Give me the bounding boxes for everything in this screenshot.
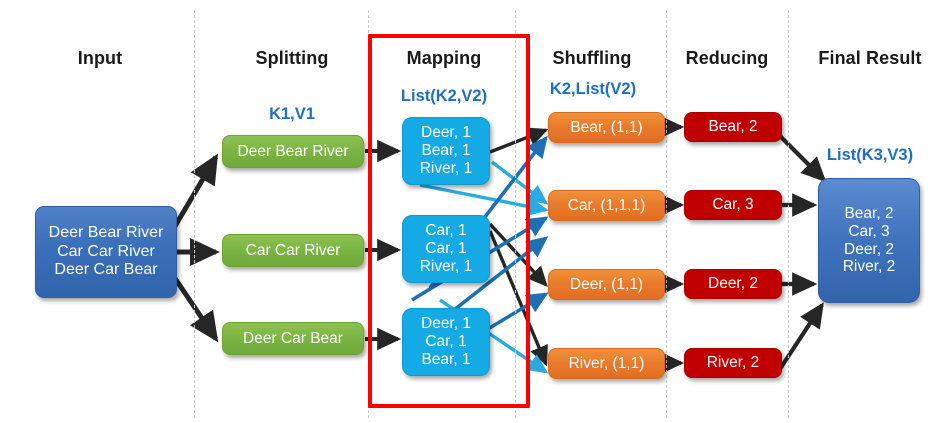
stage-title-mapping: Mapping [372,48,516,69]
shuffle-box-bear[interactable]: Bear, (1,1) [548,112,665,143]
reduce-box-river[interactable]: River, 2 [684,348,782,378]
reduce-box-deer[interactable]: Deer, 2 [684,269,782,299]
final-line-4: River, 2 [843,258,896,276]
stage-title-final-result: Final Result [796,48,944,69]
stage-title-input: Input [30,48,170,69]
map2-line-2: Car, 1 [425,240,466,258]
final-line-2: Car, 3 [848,223,889,241]
shuffle-text-deer: Deer, (1,1) [570,276,643,294]
final-result-box[interactable]: Bear, 2 Car, 3 Deer, 2 River, 2 [818,178,920,303]
shuffle-text-car: Car, (1,1,1) [568,197,646,215]
map-box-2[interactable]: Car, 1 Car, 1 River, 1 [402,215,490,283]
split-text-3: Deer Car Bear [243,330,343,348]
map3-line-3: Bear, 1 [421,351,470,369]
shuffle-text-bear: Bear, (1,1) [570,119,642,137]
shuffle-box-car[interactable]: Car, (1,1,1) [548,190,665,221]
input-box[interactable]: Deer Bear River Car Car River Deer Car B… [35,206,177,298]
input-line-1: Deer Bear River [49,224,164,243]
map-box-1[interactable]: Deer, 1 Bear, 1 River, 1 [402,117,490,185]
kv-label-list-k2v2: List(K2,V2) [372,87,516,106]
map1-line-1: Deer, 1 [421,124,471,142]
shuffle-box-deer[interactable]: Deer, (1,1) [548,269,665,300]
map1-line-3: River, 1 [420,160,473,178]
reduce-box-car[interactable]: Car, 3 [684,190,782,220]
shuffle-text-river: River, (1,1) [569,355,645,373]
stage-title-reducing: Reducing [666,48,788,69]
mapreduce-diagram: Input Splitting Mapping Shuffling Reduci… [0,0,950,423]
split-box-1[interactable]: Deer Bear River [222,135,364,168]
reduce-text-river: River, 2 [707,354,760,372]
split-text-1: Deer Bear River [237,143,348,161]
shuffle-to-reduce-arrows [665,127,681,363]
stage-title-splitting: Splitting [222,48,362,69]
map1-line-2: Bear, 1 [421,142,470,160]
input-line-2: Car Car River [57,243,155,262]
input-line-3: Deer Car Bear [54,261,157,280]
split-box-3[interactable]: Deer Car Bear [222,322,364,355]
kv-label-k1v1: K1,V1 [222,105,362,124]
map3-line-1: Deer, 1 [421,315,471,333]
map-box-3[interactable]: Deer, 1 Car, 1 Bear, 1 [402,308,490,376]
stage-divider-1 [194,10,195,418]
stage-title-shuffling: Shuffling [522,48,662,69]
reduce-text-deer: Deer, 2 [708,275,758,293]
final-line-3: Deer, 2 [844,241,894,259]
final-line-1: Bear, 2 [844,205,893,223]
map2-line-1: Car, 1 [425,222,466,240]
kv-label-k2-list-v2: K2,List(V2) [521,80,665,99]
split-text-2: Car Car River [246,242,341,260]
reduce-text-bear: Bear, 2 [708,118,757,136]
split-box-2[interactable]: Car Car River [222,234,364,267]
shuffle-box-river[interactable]: River, (1,1) [548,348,665,379]
stage-divider-4 [666,10,667,418]
kv-label-list-k3v3: List(K3,V3) [796,146,944,165]
map2-line-3: River, 1 [420,258,473,276]
reduce-box-bear[interactable]: Bear, 2 [684,112,782,142]
reduce-text-car: Car, 3 [712,196,753,214]
stage-divider-5 [788,10,789,418]
map3-line-2: Car, 1 [425,333,466,351]
